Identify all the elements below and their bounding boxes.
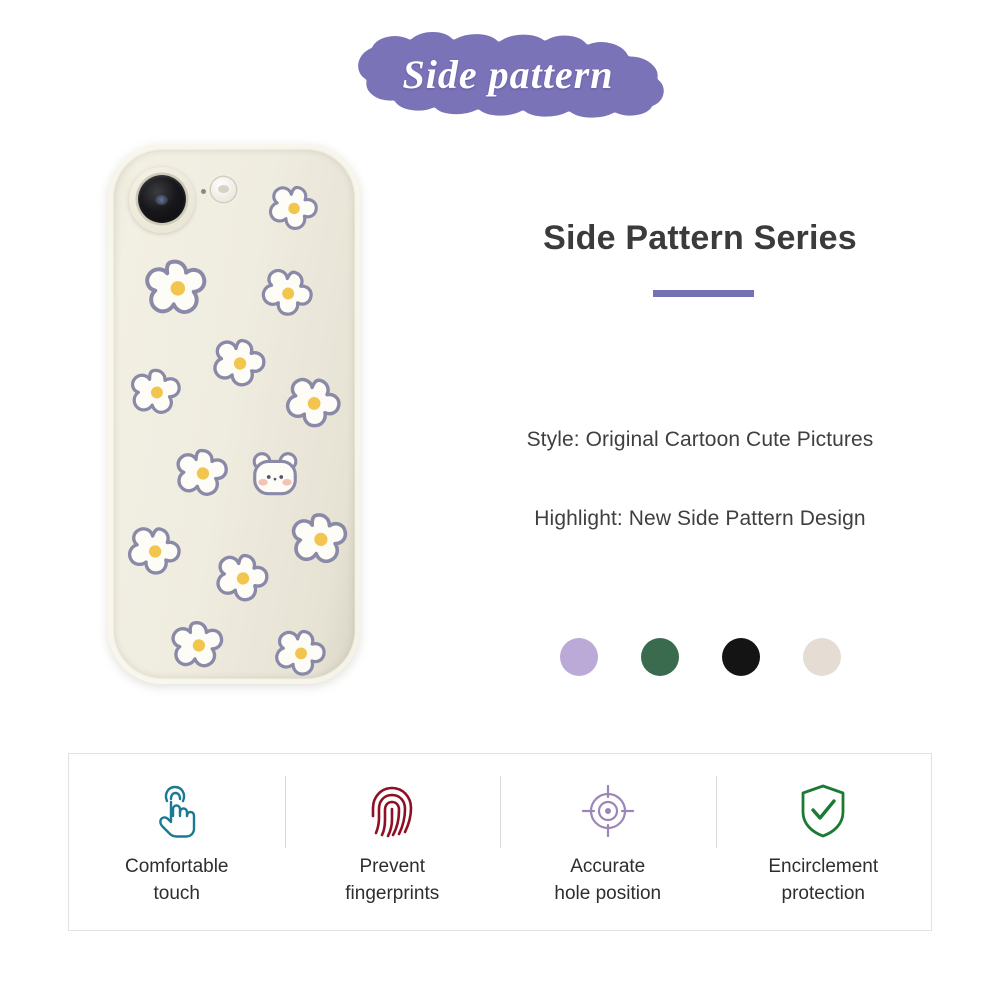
- flower-icon: [212, 336, 268, 392]
- flower-icon: [130, 366, 184, 420]
- feature-label-line1: Prevent: [360, 856, 425, 877]
- feature-accurate-hole-position: Accurate hole position: [500, 754, 716, 930]
- color-swatch-lilac[interactable]: [560, 638, 598, 676]
- phone-case-surface: [115, 151, 353, 677]
- feature-prevent-fingerprints: Prevent fingerprints: [285, 754, 501, 930]
- feature-label-line1: Comfortable: [125, 856, 229, 877]
- feature-label-line1: Accurate: [570, 856, 645, 877]
- header-banner: Side pattern: [318, 24, 690, 124]
- flower-icon: [127, 524, 183, 580]
- flower-icon: [215, 551, 271, 607]
- color-swatch-beige[interactable]: [803, 638, 841, 676]
- lens-glint: [155, 195, 168, 205]
- camera-lens-icon: [138, 175, 186, 223]
- feature-label-line2: protection: [782, 883, 865, 904]
- feature-label-line2: touch: [154, 883, 200, 904]
- crosshair-target-icon: [580, 780, 636, 842]
- feature-label: Prevent fingerprints: [345, 854, 439, 908]
- spec-highlight: Highlight: New Side Pattern Design: [460, 507, 940, 531]
- flower-icon: [291, 510, 351, 570]
- touch-hand-icon: [150, 780, 204, 842]
- banner-title: Side pattern: [318, 24, 690, 124]
- flower-icon: [261, 267, 315, 321]
- flower-icon: [274, 627, 328, 677]
- phone-case-image: [108, 144, 360, 684]
- shield-check-icon: [797, 780, 849, 842]
- feature-encirclement-protection: Encirclement protection: [716, 754, 932, 930]
- feature-label: Accurate hole position: [554, 854, 661, 908]
- flower-icon: [145, 256, 211, 322]
- feature-label-line1: Encirclement: [768, 856, 878, 877]
- color-swatch-green[interactable]: [641, 638, 679, 676]
- feature-label: Comfortable touch: [125, 854, 229, 908]
- flower-icon: [268, 183, 320, 235]
- feature-panel: Comfortable touch Prevent fingerprints: [68, 753, 932, 931]
- camera-module: [129, 167, 195, 233]
- microphone-dot-icon: [201, 189, 206, 194]
- feature-label-line2: fingerprints: [345, 883, 439, 904]
- spec-style: Style: Original Cartoon Cute Pictures: [460, 428, 940, 452]
- color-swatch-black[interactable]: [722, 638, 760, 676]
- feature-label: Encirclement protection: [768, 854, 878, 908]
- color-swatch-row[interactable]: [460, 638, 940, 676]
- feature-label-line2: hole position: [554, 883, 661, 904]
- product-title: Side Pattern Series: [460, 219, 940, 258]
- bear-face-icon: [249, 450, 301, 502]
- flower-icon: [171, 618, 227, 674]
- camera-flash-icon: [211, 177, 236, 202]
- fingerprint-icon: [365, 780, 419, 842]
- title-accent-bar: [653, 290, 754, 297]
- feature-comfortable-touch: Comfortable touch: [69, 754, 285, 930]
- flower-icon: [175, 446, 231, 502]
- flower-icon: [285, 375, 343, 433]
